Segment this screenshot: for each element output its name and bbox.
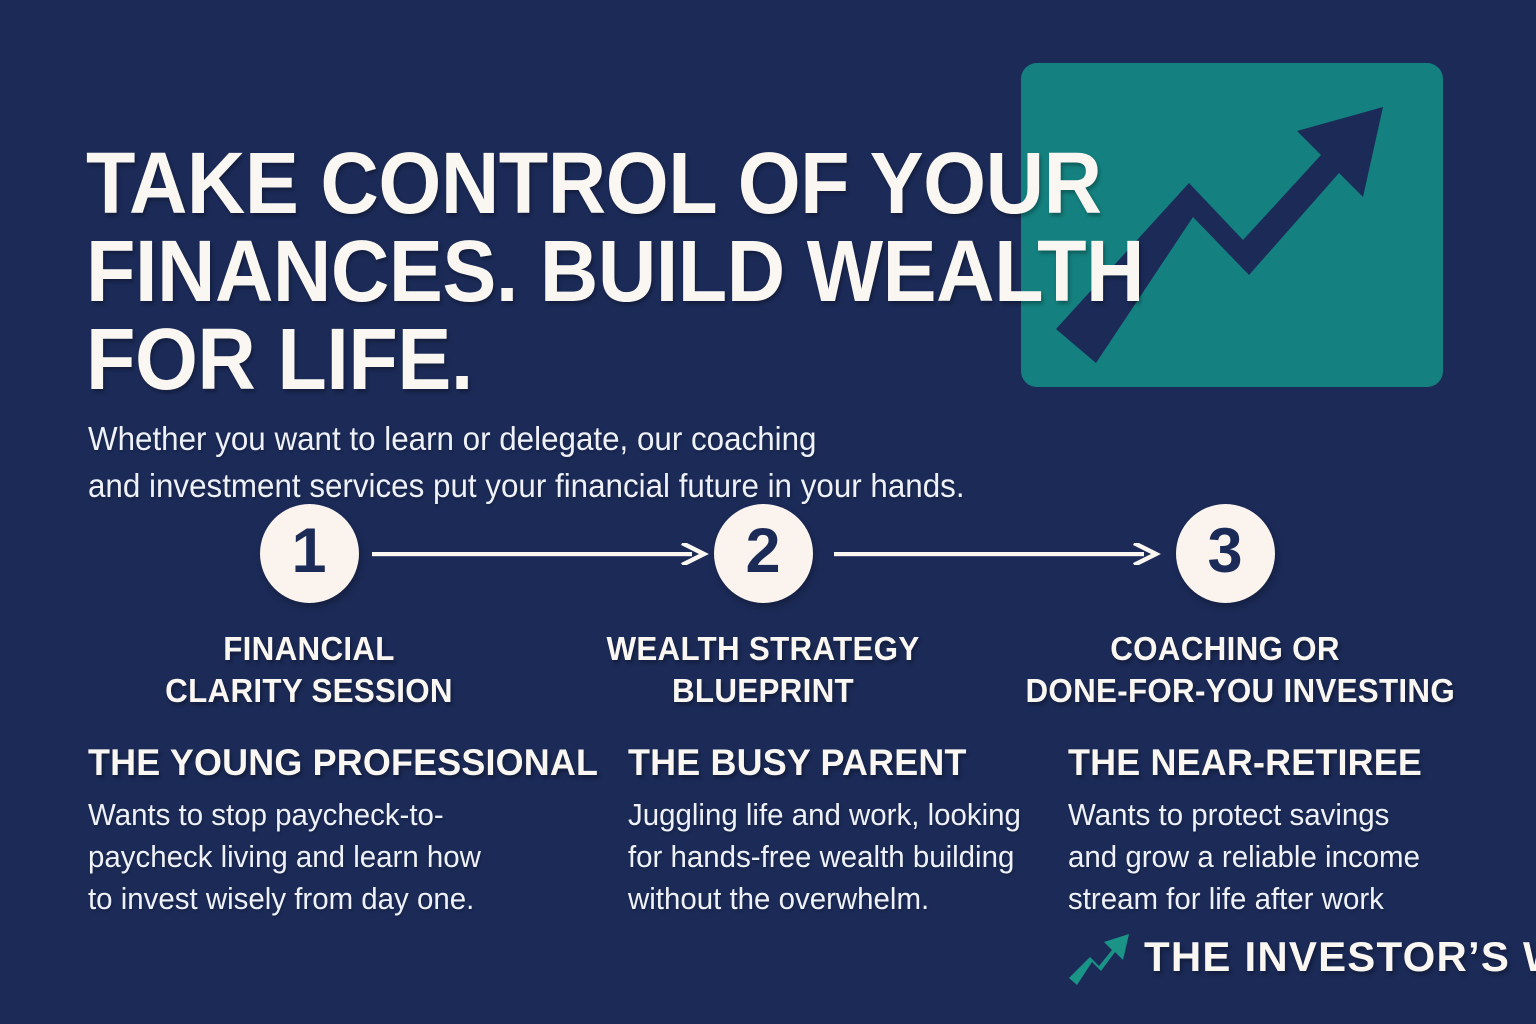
persona-description-line: Juggling life and work, looking <box>628 794 1046 836</box>
persona-description-line: without the overwhelm. <box>628 878 1046 920</box>
rising-arrow-logo-icon <box>1066 928 1132 986</box>
persona-columns: THE YOUNG PROFESSIONAL Wants to stop pay… <box>0 742 1536 932</box>
step-number-2: 2 <box>745 520 780 583</box>
persona-card-near-retiree: THE NEAR-RETIREE Wants to protect saving… <box>1068 742 1488 920</box>
subheadline-line-1: Whether you want to learn or delegate, o… <box>88 415 1133 462</box>
step-number-badge-2: 2 <box>714 504 813 603</box>
persona-description-line: for hands-free wealth building <box>628 836 1046 878</box>
persona-description: Wants to protect savings and grow a reli… <box>1068 794 1467 920</box>
step-label-1-line-2: CLARITY SESSION <box>110 670 509 712</box>
step-label-1: FINANCIAL CLARITY SESSION <box>110 628 509 712</box>
persona-description: Juggling life and work, looking for hand… <box>628 794 1046 920</box>
step-label-3: COACHING OR DONE-FOR-YOU INVESTING <box>1026 628 1425 712</box>
persona-card-young-professional: THE YOUNG PROFESSIONAL Wants to stop pay… <box>88 742 608 920</box>
arrow-right-icon <box>834 543 1164 565</box>
persona-card-busy-parent: THE BUSY PARENT Juggling life and work, … <box>628 742 1068 920</box>
persona-title: THE BUSY PARENT <box>628 742 1055 784</box>
process-step-3: 3 COACHING OR DONE-FOR-YOU INVESTING <box>1015 498 1435 712</box>
step-label-3-line-2: DONE-FOR-YOU INVESTING <box>1026 670 1425 712</box>
infographic-canvas: TAKE CONTROL OF YOUR FINANCES. BUILD WEA… <box>0 0 1536 1024</box>
step-label-1-line-1: FINANCIAL <box>110 628 509 670</box>
step-number-badge-3: 3 <box>1176 504 1275 603</box>
step-number-badge-1: 1 <box>260 504 359 603</box>
headline-line-3: FOR LIFE. <box>86 316 997 404</box>
headline-line-1: TAKE CONTROL OF YOUR <box>86 140 997 228</box>
arrow-right-icon <box>372 543 712 565</box>
headline-line-2: FINANCES. BUILD WEALTH <box>86 228 997 316</box>
process-step-2: 2 WEALTH STRATEGY BLUEPRINT <box>553 498 973 712</box>
persona-description-line: stream for life after work <box>1068 878 1467 920</box>
subheadline: Whether you want to learn or delegate, o… <box>88 415 1133 509</box>
persona-description-line: paycheck living and learn how <box>88 836 582 878</box>
step-label-2: WEALTH STRATEGY BLUEPRINT <box>564 628 963 712</box>
persona-title: THE YOUNG PROFESSIONAL <box>88 742 592 784</box>
step-label-3-line-1: COACHING OR <box>1026 628 1425 670</box>
step-label-2-line-2: BLUEPRINT <box>564 670 963 712</box>
persona-title: THE NEAR-RETIREE <box>1068 742 1475 784</box>
persona-description-line: Wants to stop paycheck-to- <box>88 794 582 836</box>
persona-description: Wants to stop paycheck-to- paycheck livi… <box>88 794 582 920</box>
step-number-3: 3 <box>1207 520 1242 583</box>
step-number-1: 1 <box>291 520 326 583</box>
page-title: TAKE CONTROL OF YOUR FINANCES. BUILD WEA… <box>86 140 997 404</box>
process-step-1: 1 FINANCIAL CLARITY SESSION <box>99 498 519 712</box>
step-label-2-line-1: WEALTH STRATEGY <box>564 628 963 670</box>
persona-description-line: and grow a reliable income <box>1068 836 1467 878</box>
brand-name: THE INVESTOR’S WAY <box>1144 936 1536 978</box>
process-steps: 1 FINANCIAL CLARITY SESSION 2 WEALTH STR… <box>0 498 1536 713</box>
brand-lockup: THE INVESTOR’S WAY <box>1066 926 1536 988</box>
persona-description-line: to invest wisely from day one. <box>88 878 582 920</box>
persona-description-line: Wants to protect savings <box>1068 794 1467 836</box>
